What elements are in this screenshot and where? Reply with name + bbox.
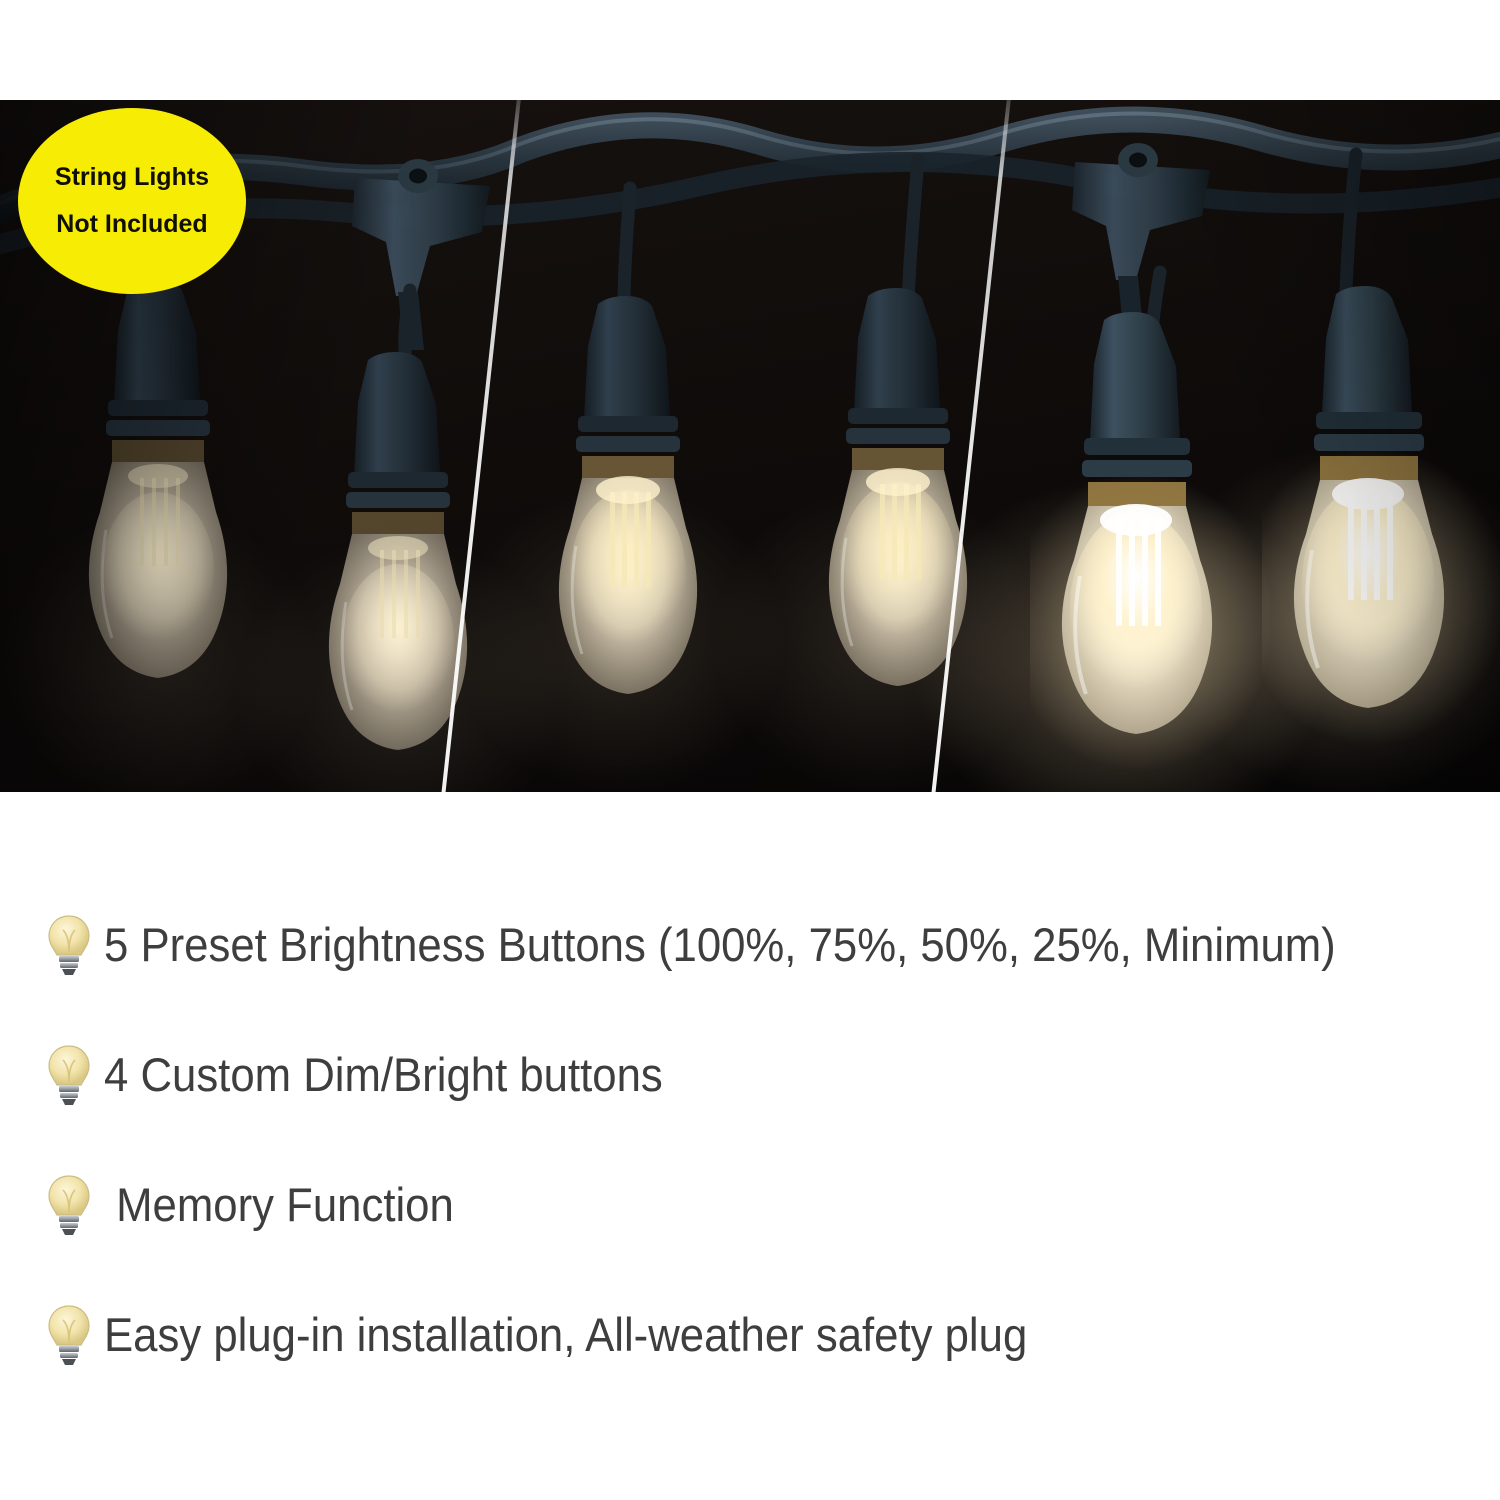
feature-text: Easy plug-in installation, All-weather s… bbox=[104, 1310, 1027, 1359]
badge-line-2: Not Included bbox=[56, 212, 207, 237]
badge-line-1: String Lights bbox=[55, 165, 209, 190]
light-bulb-icon bbox=[44, 912, 94, 978]
string-lights-not-included-badge: String Lights Not Included bbox=[18, 108, 246, 294]
feature-item-plug-in-installation: Easy plug-in installation, All-weather s… bbox=[44, 1270, 1500, 1400]
feature-text: Memory Function bbox=[104, 1180, 454, 1229]
feature-text: 4 Custom Dim/Bright buttons bbox=[104, 1050, 663, 1099]
feature-item-preset-brightness: 5 Preset Brightness Buttons (100%, 75%, … bbox=[44, 880, 1500, 1010]
feature-text: 5 Preset Brightness Buttons (100%, 75%, … bbox=[104, 920, 1336, 969]
feature-item-memory-function: Memory Function bbox=[44, 1140, 1500, 1270]
product-feature-list: 5 Preset Brightness Buttons (100%, 75%, … bbox=[0, 880, 1500, 1400]
light-bulb-icon bbox=[44, 1042, 94, 1108]
light-bulb-icon bbox=[44, 1302, 94, 1368]
light-bulb-icon bbox=[44, 1172, 94, 1238]
feature-item-custom-dim-bright: 4 Custom Dim/Bright buttons bbox=[44, 1010, 1500, 1140]
dimmer-comparison-photo: 25% 50% 100% String Lights Not Included bbox=[0, 100, 1500, 792]
